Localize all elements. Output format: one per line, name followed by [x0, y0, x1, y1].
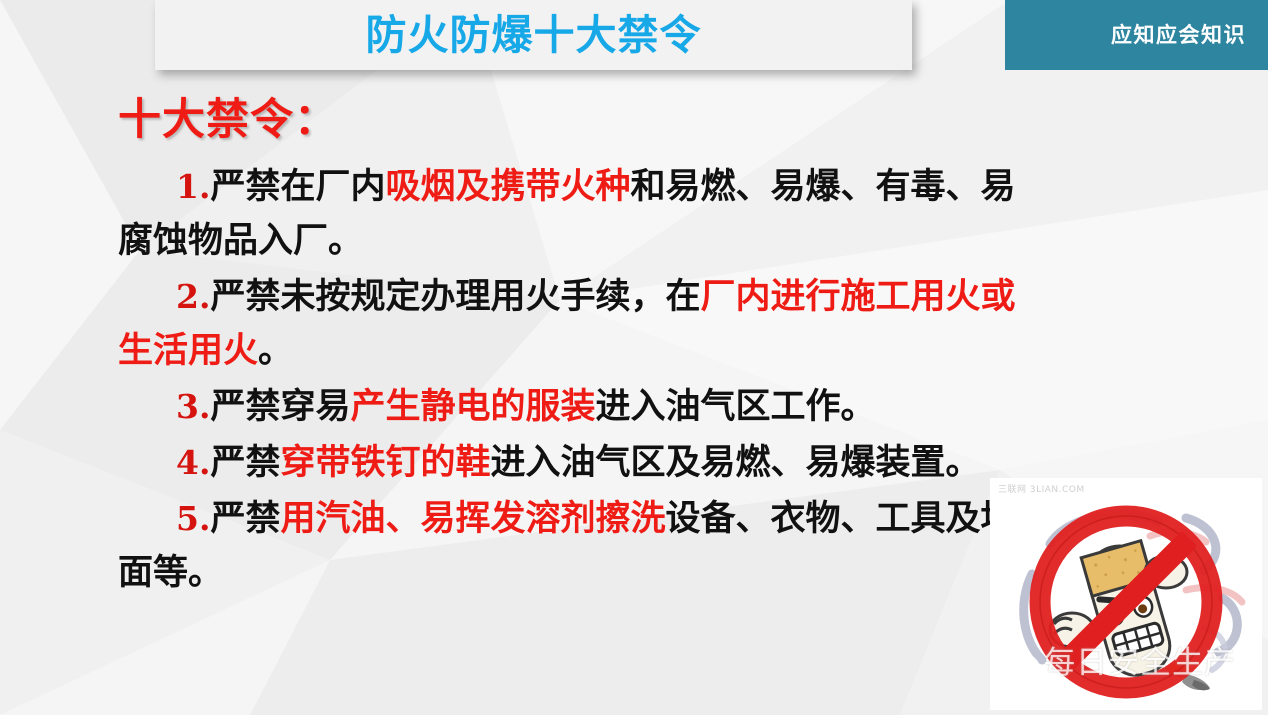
rule-number: 3.	[176, 387, 210, 426]
title-card: 防火防爆十大禁令	[155, 0, 912, 70]
rule-text: 严禁未按规定办理用火手续，在	[210, 277, 700, 317]
rule-item: 2.严禁未按规定办理用火手续，在厂内进行施工用火或生活用火。	[118, 270, 1018, 378]
rule-number: 2.	[176, 277, 210, 316]
rule-text-highlight: 吸烟及携带火种	[385, 167, 630, 207]
corner-badge: 应知应会知识	[1005, 0, 1268, 70]
watermark: 每日安全生产	[990, 637, 1236, 682]
rule-item: 4.严禁穿带铁钉的鞋进入油气区及易燃、易爆装置。	[118, 436, 1018, 490]
no-smoking-illustration: 三联网 3LIAN.COM 每日安全生产	[990, 478, 1262, 710]
rule-number: 5.	[176, 499, 210, 538]
page-title: 防火防爆十大禁令	[155, 6, 912, 64]
rule-number: 4.	[176, 443, 210, 482]
rule-text: 。	[258, 331, 293, 371]
corner-badge-label: 应知应会知识	[1111, 0, 1246, 70]
rule-item: 5.严禁用汽油、易挥发溶剂擦洗设备、衣物、工具及地面等。	[118, 492, 1018, 600]
rule-text: 进入油气区工作。	[595, 387, 875, 427]
rule-text-highlight: 穿带铁钉的鞋	[280, 443, 490, 483]
rule-text: 进入油气区及易燃、易爆装置。	[490, 443, 980, 483]
rules-list: 1.严禁在厂内吸烟及携带火种和易燃、易爆、有毒、易腐蚀物品入厂。2.严禁未按规定…	[118, 160, 1018, 602]
rule-text-highlight: 产生静电的服装	[350, 387, 595, 427]
rule-text: 严禁	[210, 499, 280, 539]
wechat-icon	[990, 640, 1040, 680]
rule-text: 严禁	[210, 443, 280, 483]
rule-number: 1.	[176, 167, 210, 206]
rule-text: 严禁在厂内	[210, 167, 385, 207]
rule-text-highlight: 用汽油、易挥发溶剂擦洗	[280, 499, 665, 539]
section-heading: 十大禁令：	[118, 92, 338, 148]
rule-item: 1.严禁在厂内吸烟及携带火种和易燃、易爆、有毒、易腐蚀物品入厂。	[118, 160, 1018, 268]
rule-text: 严禁穿易	[210, 387, 350, 427]
image-source-tag: 三联网 3LIAN.COM	[998, 482, 1085, 495]
watermark-text: 每日安全生产	[1044, 637, 1236, 682]
slide-canvas: 防火防爆十大禁令 应知应会知识 十大禁令： 1.严禁在厂内吸烟及携带火种和易燃、…	[0, 0, 1268, 715]
rule-item: 3.严禁穿易产生静电的服装进入油气区工作。	[118, 380, 1018, 434]
